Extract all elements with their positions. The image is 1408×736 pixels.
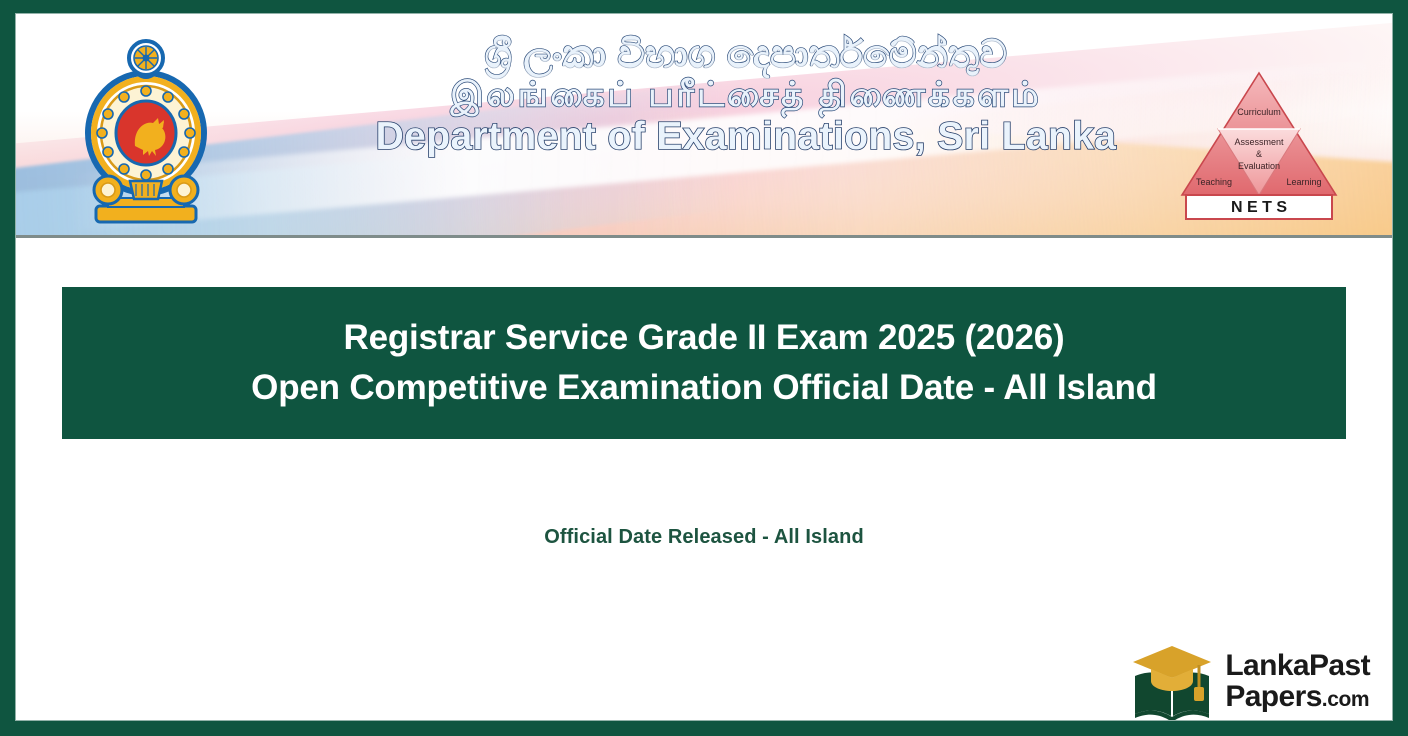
brand-tld: .com [1322,688,1369,711]
brand-name-line-2: Papers [1225,680,1321,713]
graduation-cap-book-icon [1129,638,1215,720]
nets-acronym: N E T S [1231,199,1287,216]
department-title-sinhala: ශ්‍රී ලංකා විභාග දෙපාර්තමේන්තුව [316,36,1176,76]
nets-pyramid-icon: Curriculum Assessment & Evaluation Teach… [1178,69,1340,224]
official-date-subtitle: Official Date Released - All Island [16,526,1392,549]
nets-center-label-1: Assessment [1234,137,1284,147]
exam-title-line-1: Registrar Service Grade II Exam 2025 (20… [344,313,1065,363]
brand-name-line-1: LankaPast [1225,649,1370,682]
lankapastpapers-logo[interactable]: LankaPast Papers.com [1129,638,1370,720]
exam-title-banner: Registrar Service Grade II Exam 2025 (20… [62,287,1346,439]
brand-wordmark: LankaPast Papers.com [1225,651,1370,712]
department-titles: ශ්‍රී ලංකා විභාග දෙපාර්තමේන්තුව இலங்கைப்… [316,36,1176,157]
nets-right-label: Learning [1286,177,1321,187]
sri-lanka-national-emblem-icon [78,38,214,224]
nets-center-label-2: & [1256,149,1262,159]
department-header-banner: ශ්‍රී ලංකා විභාග දෙපාර්තමේන්තුව இலங்கைப்… [16,14,1392,238]
department-title-english: Department of Examinations, Sri Lanka [316,117,1176,158]
nets-left-label: Teaching [1196,177,1232,187]
department-title-tamil: இலங்கைப் பரீட்சைத் திணைக்களம் [316,78,1176,113]
nets-center-label-3: Evaluation [1238,161,1280,171]
page-canvas: ශ්‍රී ලංකා විභාග දෙපාර්තමේන්තුව இலங்கைப்… [16,14,1392,720]
page-frame: ශ්‍රී ලංකා විභාග දෙපාර්තමේන්තුව இலங்கைப்… [0,0,1408,736]
nets-apex-label: Curriculum [1237,107,1281,117]
exam-title-line-2: Open Competitive Examination Official Da… [251,363,1157,413]
